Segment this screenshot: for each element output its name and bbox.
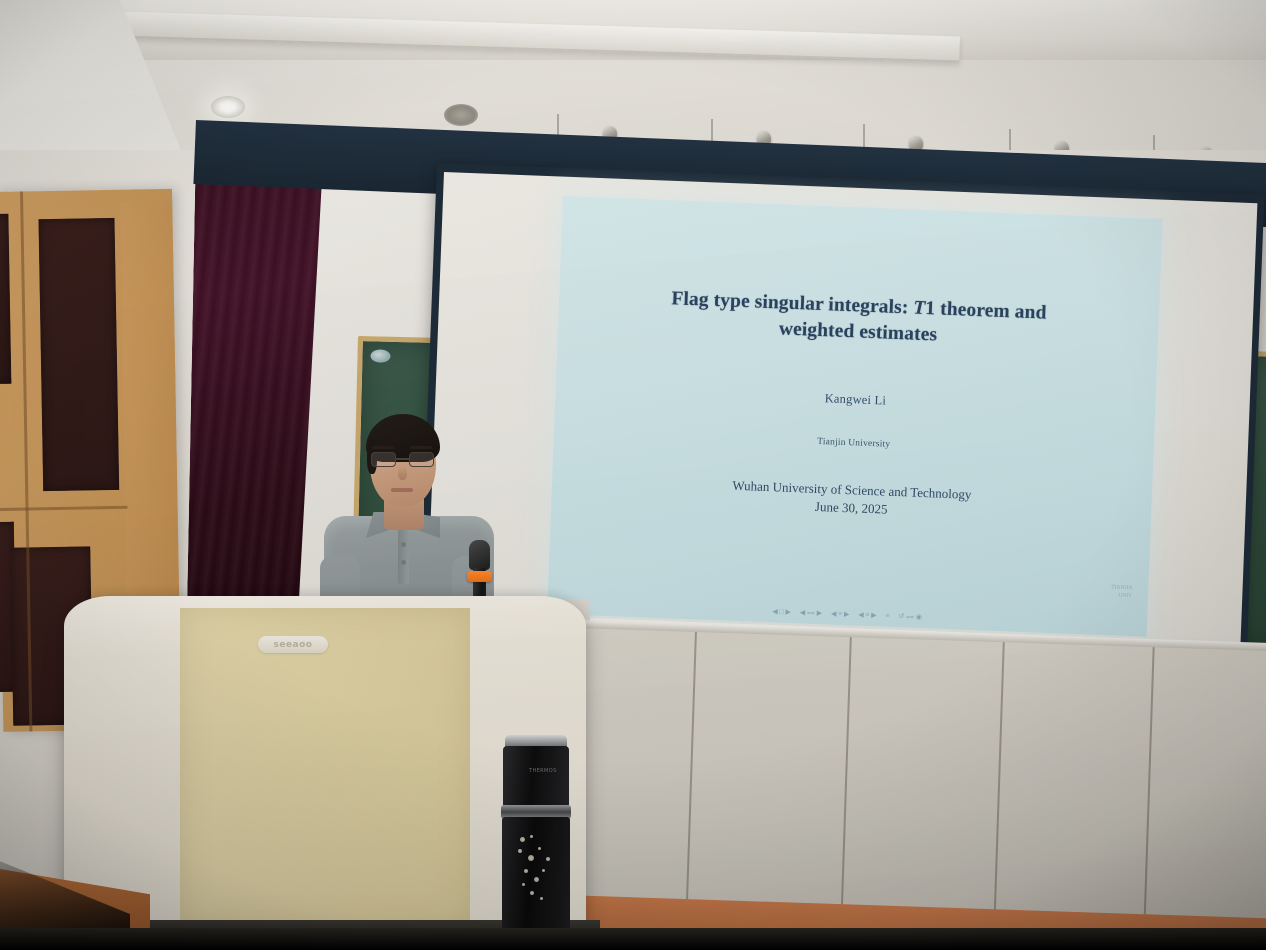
slide-affiliation: Tianjin University: [584, 428, 1124, 459]
vacuum-flask: THERMOS: [498, 735, 576, 950]
chalkboard-sticker-icon: [370, 349, 390, 362]
slide-institution-logo: TIANJIN UNIV: [1111, 583, 1133, 600]
ceiling-downlight: [211, 96, 245, 118]
projected-slide: Flag type singular integrals: T1 theorem…: [547, 196, 1163, 637]
slide-logo-line1: TIANJIN: [1111, 583, 1132, 592]
foreground-bottom-edge: [0, 928, 1266, 950]
wall-panel-seam: [685, 632, 697, 932]
flask-brand-label: THERMOS: [529, 768, 557, 774]
nav-symbol[interactable]: ◀ ≡ ▶: [858, 611, 877, 621]
presenter-eyebrow-right: [410, 446, 432, 449]
presenter-shirt-button: [401, 560, 406, 565]
microphone-head: [469, 540, 490, 570]
wall-panel-seam: [840, 637, 852, 937]
presenter-mouth: [391, 488, 413, 492]
slide-title: Flag type singular integrals: T1 theorem…: [588, 283, 1130, 356]
presenter-shirt-placket: [398, 530, 409, 584]
ceiling-downlight-dim: [444, 104, 478, 126]
cabinet-panel: [0, 214, 11, 384]
nav-symbol[interactable]: ↺ ⩵ ◉: [898, 612, 922, 622]
slide-title-part1: Flag type singular integrals:: [671, 288, 914, 318]
wall-panel-seam: [993, 642, 1005, 942]
nav-symbol[interactable]: ◀ ≡ ▶: [831, 610, 850, 620]
cabinet-panel: [38, 218, 119, 491]
podium-brand-plate: seeaoo: [258, 636, 328, 653]
podium-brand-label: seeaoo: [273, 640, 312, 650]
nav-symbol[interactable]: ≡: [885, 612, 889, 621]
slide-venue: Wuhan University of Science and Technolo…: [581, 471, 1122, 528]
slide-logo-line2: UNIV: [1111, 591, 1132, 600]
slide-title-part1b: 1 theorem and: [925, 298, 1047, 324]
presenter-nose: [398, 466, 407, 480]
glasses-bridge: [396, 458, 409, 460]
microphone-clip: [467, 571, 492, 582]
presenter-eyebrow-left: [372, 446, 394, 449]
cabinet-divider: [0, 506, 128, 511]
flask-upper-body: THERMOS: [503, 746, 569, 808]
flask-decoration: [516, 835, 558, 911]
slide-author: Kangwei Li: [585, 382, 1125, 418]
nav-symbol[interactable]: ◀ □ ▶: [772, 607, 791, 617]
slide-title-part2: weighted estimates: [778, 319, 937, 346]
glasses-lens-right: [409, 452, 434, 467]
presenter-shirt-button: [401, 542, 406, 547]
lecture-hall-photo: Flag type singular integrals: T1 theorem…: [0, 0, 1266, 950]
wall-panel-seam: [1143, 647, 1155, 947]
glasses-lens-left: [371, 452, 396, 467]
nav-symbol[interactable]: ◀ ⩵ ▶: [800, 608, 823, 618]
podium-front-panel: [180, 608, 470, 926]
